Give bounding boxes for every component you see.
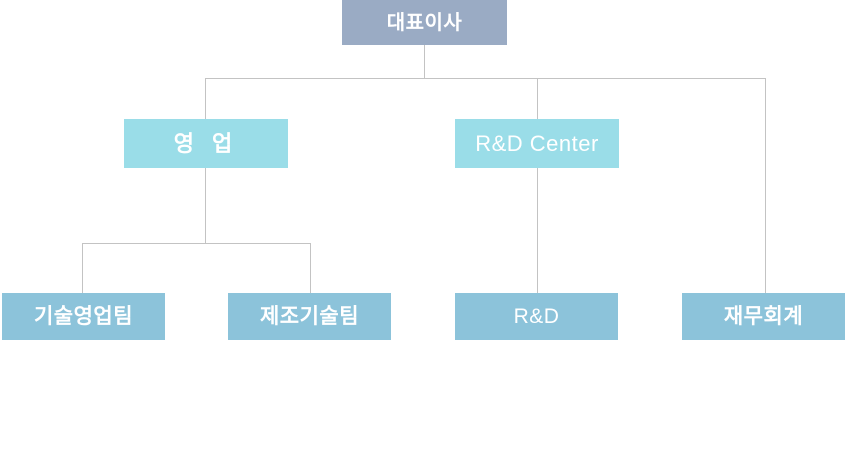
connector-level2-bus <box>205 78 766 79</box>
connector-sales-stem <box>205 168 206 243</box>
connector-drop-sales <box>205 78 206 120</box>
node-finance-accounting[interactable]: 재무회계 <box>682 293 845 340</box>
node-ceo[interactable]: 대표이사 <box>342 0 507 45</box>
connector-drop-tech-sales-team <box>82 243 83 294</box>
connector-ceo-stem <box>424 45 425 79</box>
node-tech-sales-team-label: 기술영업팀 <box>34 306 133 327</box>
connector-rnd-center-to-rnd <box>537 168 538 294</box>
node-rnd[interactable]: R&D <box>455 293 618 340</box>
connector-drop-finance-accounting <box>765 78 766 294</box>
org-chart: 대표이사 영 업 R&D Center 기술영업팀 제조기술팀 R&D 재무회계 <box>0 0 847 455</box>
node-ceo-label: 대표이사 <box>387 13 463 33</box>
connector-drop-rnd-center <box>537 78 538 120</box>
node-rnd-center-label: R&D Center <box>475 133 599 155</box>
node-tech-sales-team[interactable]: 기술영업팀 <box>2 293 165 340</box>
node-sales-label: 영 업 <box>174 133 239 155</box>
node-mfg-tech-team[interactable]: 제조기술팀 <box>228 293 391 340</box>
connector-drop-mfg-tech-team <box>310 243 311 294</box>
node-sales[interactable]: 영 업 <box>124 119 288 168</box>
node-finance-accounting-label: 재무회계 <box>724 306 803 327</box>
node-rnd-center[interactable]: R&D Center <box>455 119 619 168</box>
node-rnd-label: R&D <box>514 306 560 327</box>
node-mfg-tech-team-label: 제조기술팀 <box>260 306 359 327</box>
connector-level3-bus-sales <box>82 243 311 244</box>
